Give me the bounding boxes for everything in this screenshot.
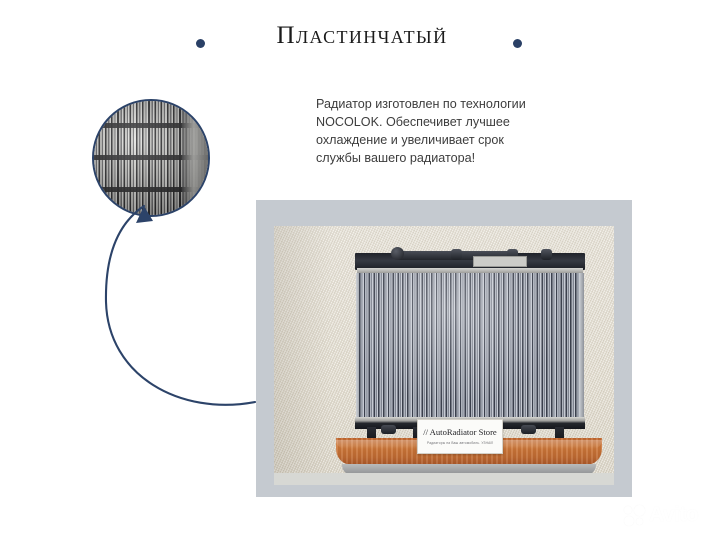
radiator-outlet-neck-right	[521, 425, 536, 434]
store-info-card: // AutoRadiator Store Радиаторы на Ваш а…	[417, 419, 503, 454]
radiator-sticker	[473, 256, 527, 267]
photo-wall-shadow	[274, 226, 332, 485]
avito-logo-icon	[624, 505, 645, 526]
radiator-filler-cap	[391, 247, 404, 260]
radiator-product-photo: // AutoRadiator Store Радиаторы на Ваш а…	[274, 226, 614, 485]
radiator-side-rail-right	[579, 273, 584, 417]
curved-arrow-icon	[100, 190, 280, 420]
radiator-outlet-neck-left	[381, 425, 396, 434]
slide-canvas: Пластинчатый Радиатор изготовлен по техн…	[0, 0, 720, 540]
store-card-subtitle: Радиаторы на Ваш автомобиль. УЗНАЙ	[418, 441, 502, 445]
radiator-product	[355, 253, 585, 443]
photo-floor	[274, 473, 614, 485]
bullet-dot-left-icon	[196, 39, 205, 48]
radiator-core-sheen	[359, 273, 581, 417]
radiator-fitting-c	[541, 249, 552, 260]
avito-watermark: Avito	[624, 503, 698, 527]
store-card-title: // AutoRadiator Store	[418, 427, 502, 437]
body-paragraph: Радиатор изготовлен по технологии NOCOLO…	[316, 95, 548, 168]
page-title: Пластинчатый	[232, 22, 492, 50]
photo-frame: // AutoRadiator Store Радиаторы на Ваш а…	[256, 200, 632, 497]
avito-wordmark: Avito	[649, 503, 698, 527]
radiator-fitting-a	[451, 249, 462, 260]
radiator-core-fins	[359, 273, 581, 417]
bullet-dot-right-icon	[513, 39, 522, 48]
